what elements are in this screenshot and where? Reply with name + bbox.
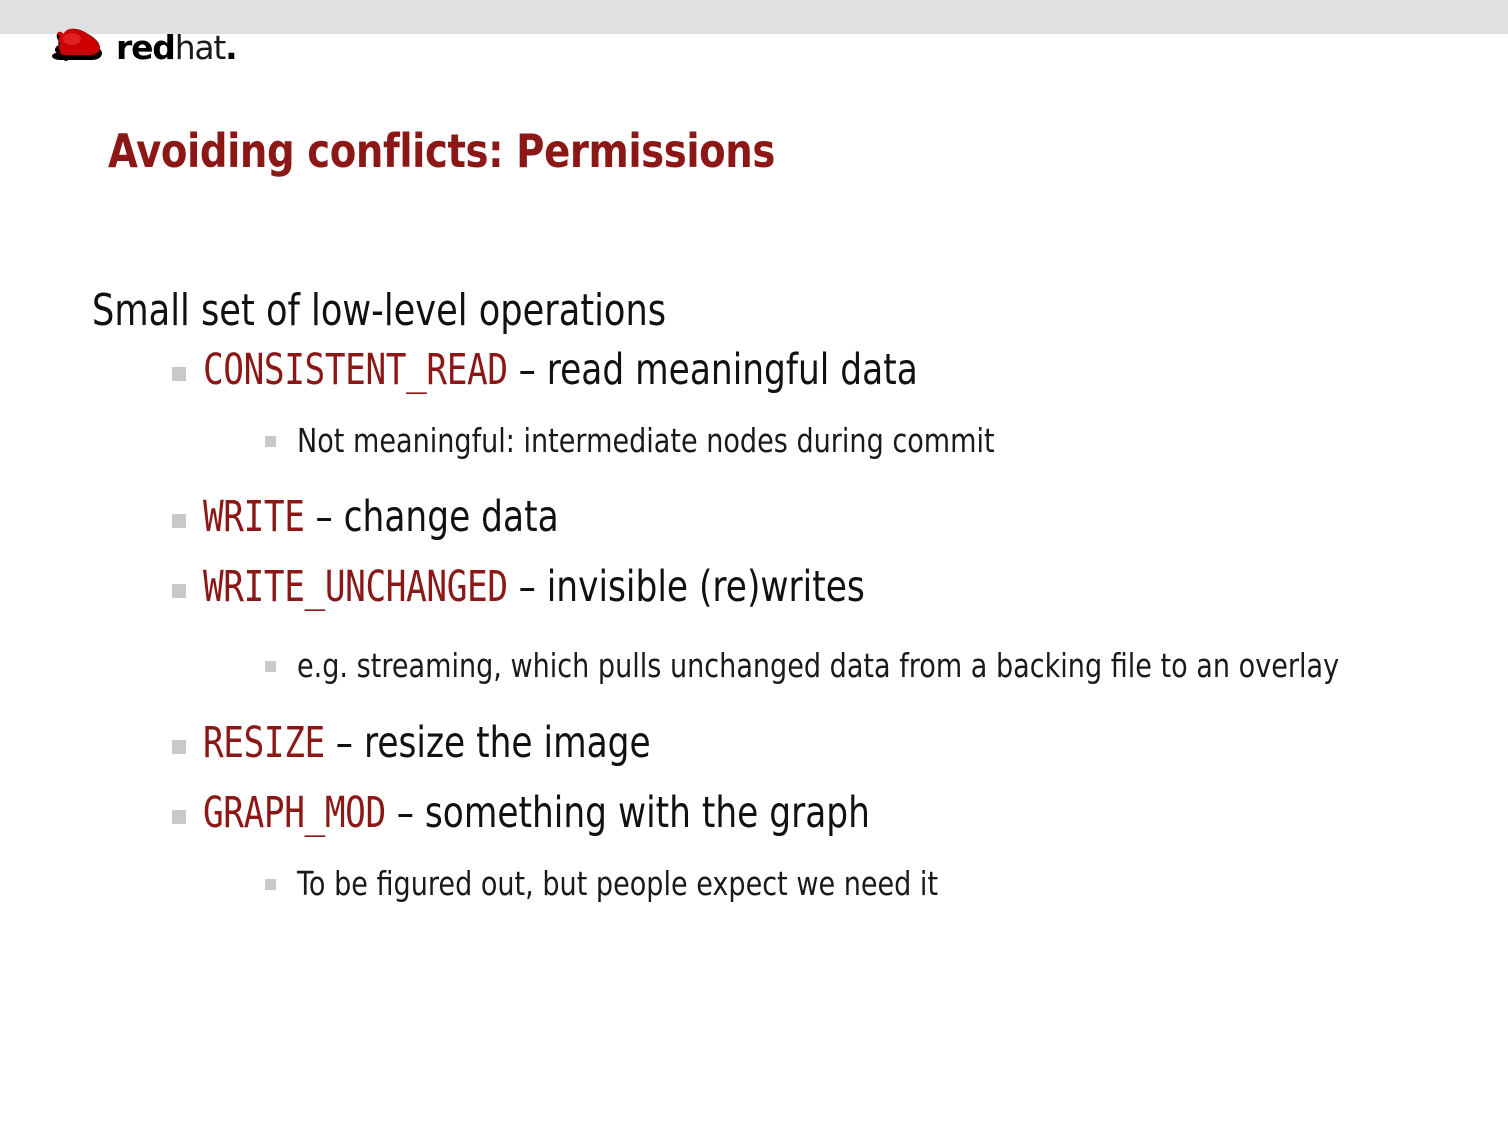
square-bullet-icon	[265, 661, 276, 672]
page-title: Avoiding conflicts: Permissions	[108, 124, 775, 178]
dash-separator: –	[508, 562, 547, 612]
operation-name: WRITE	[203, 492, 305, 542]
slide-body: Small set of low-level operations CONSIS…	[0, 288, 1508, 903]
list-item: WRITE – change data	[0, 494, 1508, 546]
sub-item-text: e.g. streaming, which pulls unchanged da…	[297, 646, 1508, 686]
redhat-shadowman-icon	[48, 22, 110, 66]
list-item: Not meaningful: intermediate nodes durin…	[0, 421, 1508, 461]
list-item: CONSISTENT_READ – read meaningful data	[0, 347, 1508, 399]
dash-separator: –	[386, 788, 425, 838]
sub-item-text: To be figured out, but people expect we …	[297, 864, 1290, 904]
list-item: To be figured out, but people expect we …	[0, 864, 1508, 904]
logo-word-hat: hat	[175, 28, 225, 67]
operation-description: read meaningful data	[547, 345, 918, 395]
operation-name: CONSISTENT_READ	[203, 345, 508, 395]
operation-description: change data	[344, 492, 559, 542]
list-item-text: WRITE – change data	[203, 494, 559, 540]
operation-name: WRITE_UNCHANGED	[203, 562, 508, 612]
dash-separator: –	[508, 345, 547, 395]
dash-separator: –	[305, 492, 344, 542]
operation-name: RESIZE	[203, 718, 325, 768]
list-item: WRITE_UNCHANGED – invisible (re)writes	[0, 564, 1508, 616]
square-bullet-icon	[172, 584, 186, 598]
logo-word-red: red	[116, 28, 175, 67]
square-bullet-icon	[265, 436, 276, 447]
square-bullet-icon	[172, 740, 186, 754]
list-item-text: GRAPH_MOD – something with the graph	[203, 790, 870, 836]
list-item-text: WRITE_UNCHANGED – invisible (re)writes	[203, 564, 865, 610]
square-bullet-icon	[172, 810, 186, 824]
operation-description: resize the image	[364, 718, 651, 768]
list-item-text: CONSISTENT_READ – read meaningful data	[203, 347, 918, 393]
square-bullet-icon	[265, 879, 276, 890]
list-item: RESIZE – resize the image	[0, 720, 1508, 772]
redhat-logo: redhat.	[48, 20, 237, 68]
list-item: e.g. streaming, which pulls unchanged da…	[0, 646, 1508, 686]
square-bullet-icon	[172, 514, 186, 528]
list-item-text: RESIZE – resize the image	[203, 720, 651, 766]
operation-description: invisible (re)writes	[547, 562, 865, 612]
operation-description: something with the graph	[425, 788, 870, 838]
list-item: GRAPH_MOD – something with the graph	[0, 790, 1508, 842]
logo-word-dot: .	[225, 28, 236, 67]
square-bullet-icon	[172, 367, 186, 381]
redhat-wordmark: redhat.	[116, 31, 237, 64]
bullet-heading: Small set of low-level operations	[0, 288, 1206, 335]
sub-item-text: Not meaningful: intermediate nodes durin…	[297, 421, 1290, 461]
dash-separator: –	[325, 718, 364, 768]
operation-name: GRAPH_MOD	[203, 788, 386, 838]
